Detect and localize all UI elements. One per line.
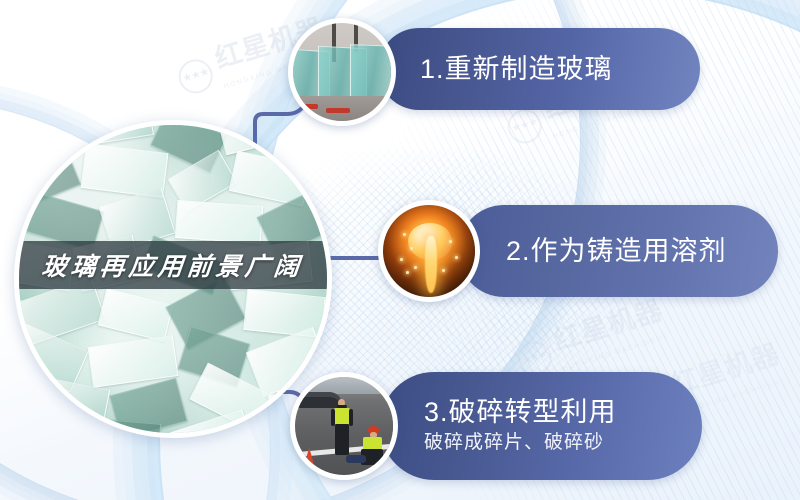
item-3-pill[interactable]: 3.破碎转型利用 破碎成碎片、破碎砂 (380, 372, 702, 480)
item-1-thumbnail[interactable] (288, 18, 396, 126)
item-1-title: 1.重新制造玻璃 (420, 54, 613, 84)
molten-metal-image (383, 205, 475, 297)
road-crew-image (295, 377, 393, 475)
item-2-thumbnail[interactable] (378, 200, 480, 302)
watermark-seal-icon: ★★★ (503, 105, 545, 147)
watermark-brand-cn: 红星机器 (551, 297, 666, 356)
item-2-title: 2.作为铸造用溶剂 (506, 236, 727, 266)
watermark-seal-icon: ★★★ (174, 55, 216, 97)
infographic-canvas: ★★★ 红星机器 HONGXING MACHINERY ★★★ 红星机器 HON… (0, 0, 800, 500)
hero-banner: 玻璃再应用前景广阔 (14, 241, 332, 289)
item-1-pill[interactable]: 1.重新制造玻璃 (378, 28, 700, 110)
item-3-thumbnail[interactable] (290, 372, 398, 480)
hero-circle: 玻璃再应用前景广阔 (14, 120, 332, 438)
item-3-title: 3.破碎转型利用 (424, 397, 617, 427)
hero-banner-text: 玻璃再应用前景广阔 (41, 247, 306, 283)
item-3-subtitle: 破碎成碎片、破碎砂 (424, 431, 617, 455)
watermark-brand-en: HONGXING MACHINERY (562, 333, 671, 372)
item-2-pill[interactable]: 2.作为铸造用溶剂 (458, 205, 778, 297)
glass-sheets-image (293, 23, 391, 121)
